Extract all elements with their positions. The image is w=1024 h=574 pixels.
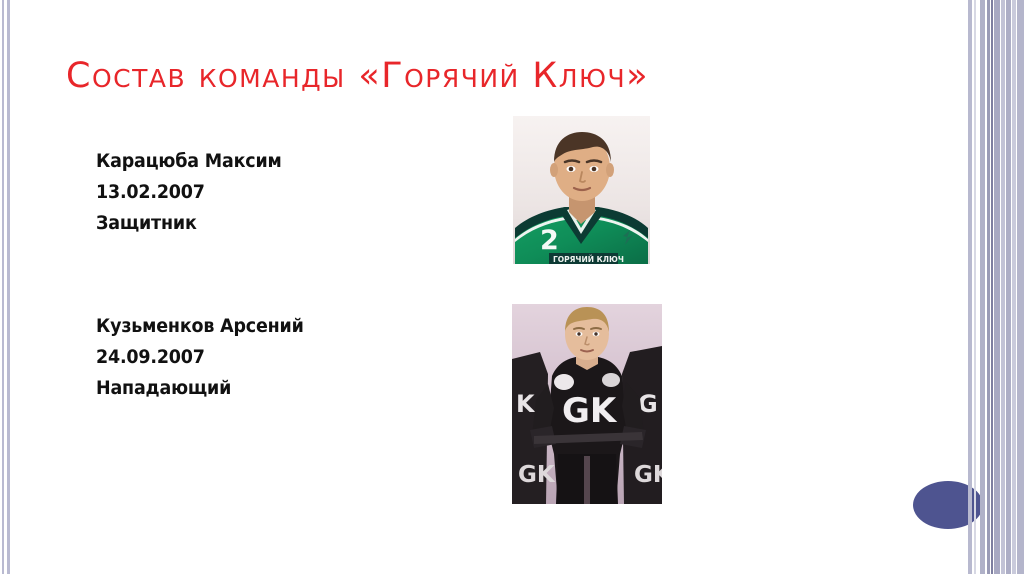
border-stripe-9: [1017, 0, 1024, 574]
border-stripe-2: [980, 0, 985, 574]
border-stripe-1: [7, 0, 10, 574]
border-stripe-4: [991, 0, 993, 574]
player-2-info: Кузьменков Арсений 24.09.2007 Нападающий: [96, 311, 304, 404]
border-stripe-0: [2, 0, 4, 574]
player-1-jersey-number: 2: [540, 225, 559, 256]
decorative-ellipse: [913, 481, 983, 529]
left-border-stripes: [0, 0, 14, 574]
player-2-birthdate: 24.09.2007: [96, 342, 304, 373]
player-1-name: Карацюба Максим: [96, 146, 282, 177]
player-2-photo: K G GK GK GK: [512, 304, 662, 504]
border-stripe-5: [994, 0, 1000, 574]
player-1-info: Карацюба Максим 13.02.2007 Защитник: [96, 146, 282, 239]
border-stripe-1: [974, 0, 976, 574]
player-1-birthdate: 13.02.2007: [96, 177, 282, 208]
svg-text:K: K: [516, 390, 536, 418]
slide-title: Состав команды «Горячий Ключ»: [66, 57, 649, 96]
player-1-photo-graphic: 2 ГОРЯЧИЙ КЛЮЧ: [513, 116, 650, 264]
presentation-slide: Состав команды «Горячий Ключ» Карацюба М…: [0, 0, 1024, 574]
player-2-jersey-text: GK: [562, 391, 618, 431]
player-1-photo: 2 ГОРЯЧИЙ КЛЮЧ: [513, 116, 650, 264]
svg-text:GK: GK: [634, 462, 662, 488]
player-2-position: Нападающий: [96, 373, 304, 404]
border-stripe-7: [1006, 0, 1011, 574]
border-stripe-6: [1001, 0, 1005, 574]
svg-text:GK: GK: [518, 462, 556, 488]
player-1-position: Защитник: [96, 208, 282, 239]
player-2-photo-graphic: K G GK GK GK: [512, 304, 662, 504]
border-stripe-3: [987, 0, 990, 574]
border-stripe-8: [1012, 0, 1016, 574]
player-2-name: Кузьменков Арсений: [96, 311, 304, 342]
player-1-jersey-text: ГОРЯЧИЙ КЛЮЧ: [553, 255, 624, 264]
